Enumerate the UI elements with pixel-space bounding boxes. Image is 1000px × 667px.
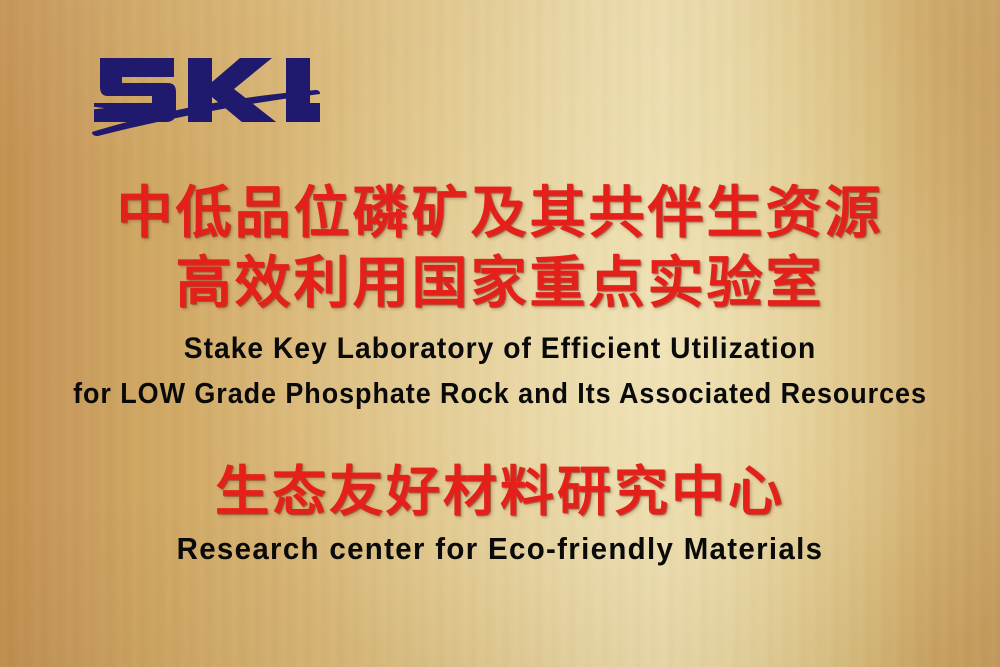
lab-name-english-line-1: Stake Key Laboratory of Efficient Utiliz… — [30, 334, 970, 364]
skl-logo — [88, 44, 320, 136]
center-name-english: Research center for Eco-friendly Materia… — [25, 533, 975, 564]
lab-name-chinese-line-2: 高效利用国家重点实验室 — [0, 256, 1000, 312]
plaque-sign: 中低品位磷矿及其共伴生资源 高效利用国家重点实验室 Stake Key Labo… — [0, 0, 1000, 667]
center-name-chinese: 生态友好材料研究中心 — [0, 465, 1000, 519]
lab-name-chinese-line-1: 中低品位磷矿及其共伴生资源 — [0, 186, 1000, 242]
lab-name-english-line-2: for LOW Grade Phosphate Rock and Its Ass… — [35, 380, 965, 409]
